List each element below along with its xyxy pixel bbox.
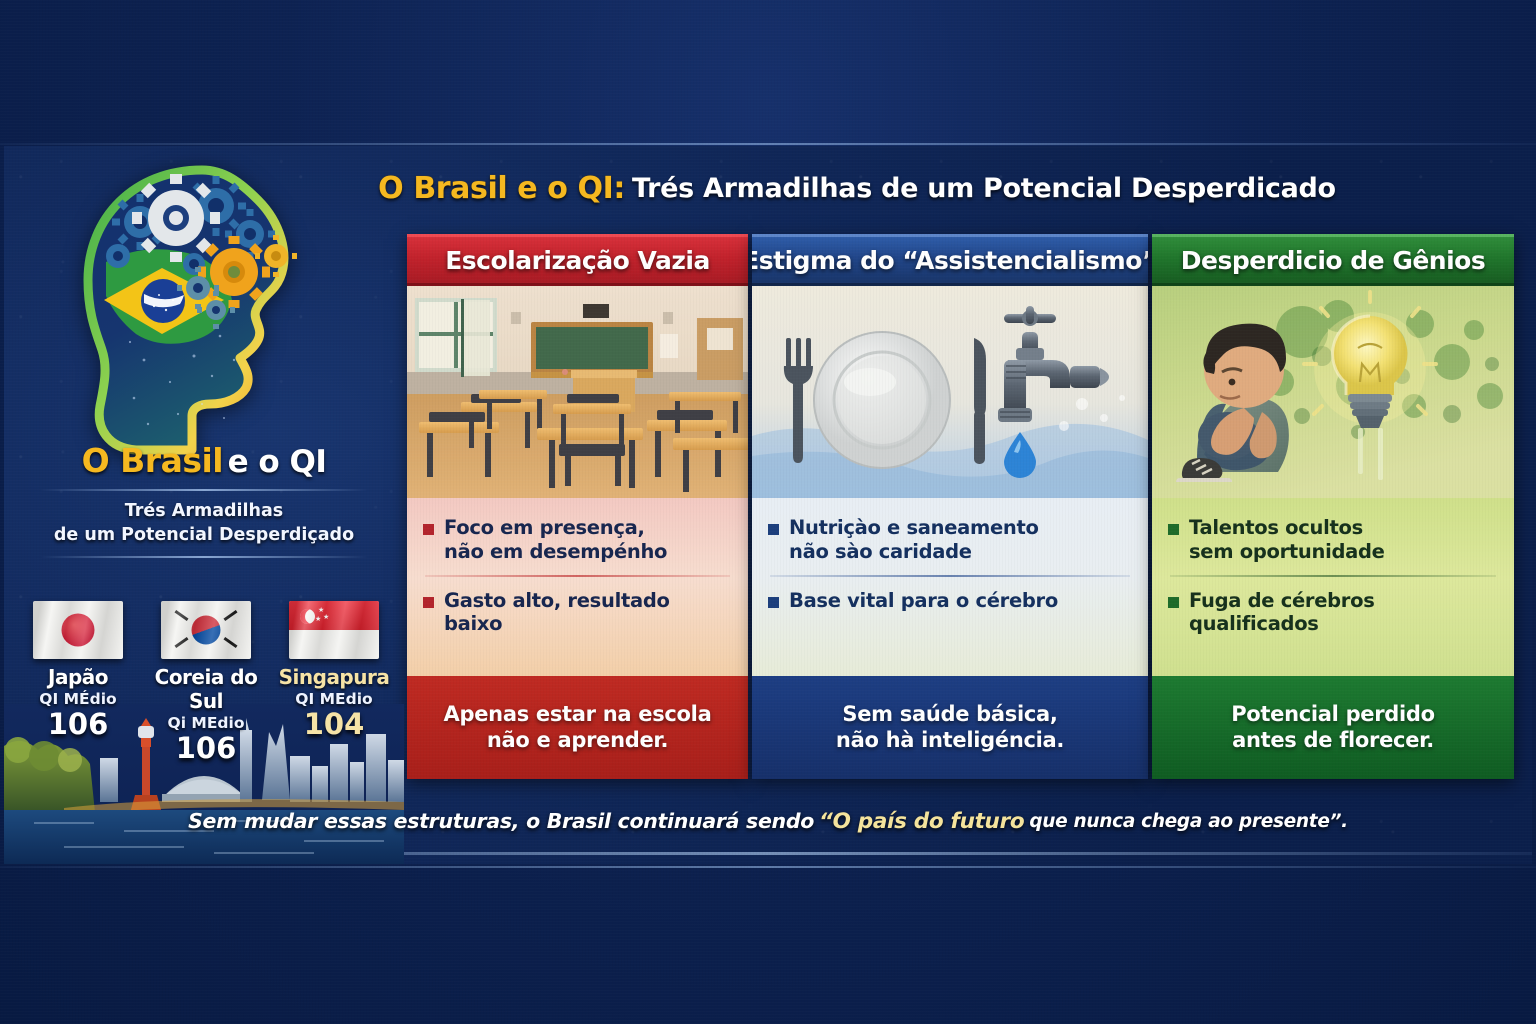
- country-iq-label: QI MÉdio: [18, 690, 138, 708]
- japan-flag-icon: [33, 601, 123, 659]
- card-conclusion-text: Sem saúde básica, não hà inteligéncia.: [836, 702, 1064, 753]
- bullet-item: Talentos ocultos sem oportunidade: [1168, 516, 1498, 564]
- japan-sun: [62, 614, 95, 647]
- conclusion-line-1: Sem saúde básica,: [842, 702, 1057, 726]
- bullet-marker-icon: [423, 524, 434, 535]
- bullet-text: Talentos ocultos sem oportunidade: [1189, 516, 1385, 564]
- bullet-item: Foco em presença, não em desempénho: [423, 516, 732, 564]
- bullet-separator: [425, 575, 730, 577]
- bullet-line-1: Talentos ocultos: [1189, 516, 1363, 539]
- country-name: Japão: [18, 665, 138, 689]
- country-iq-label: QI MEdio: [274, 690, 394, 708]
- bullet-line-2: não em desempénho: [444, 540, 667, 563]
- country-stat-south-korea: Coreia do Sul Qi MEdio 106: [146, 601, 266, 763]
- footer-text-part-1: Sem mudar essas estruturas, o Brasil con…: [188, 809, 814, 833]
- card-bullets: Foco em presença, não em desempénho Gast…: [407, 498, 748, 676]
- footer-banner: Sem mudar essas estruturas, o Brasil con…: [4, 794, 1532, 848]
- country-stat-japan: Japão QI MÉdio 106: [18, 601, 138, 763]
- crescent-moon: [300, 609, 315, 624]
- country-iq-value: 106: [18, 709, 138, 739]
- card-conclusion-text: Apenas estar na escola não e aprender.: [444, 702, 712, 753]
- bullet-marker-icon: [1168, 524, 1179, 535]
- bullet-separator: [1170, 575, 1496, 577]
- infographic-poster: O Brasil e o QI: Trés Armadilhas de um P…: [0, 0, 1536, 1024]
- card-conclusion: Apenas estar na escola não e aprender.: [407, 676, 748, 779]
- card-conclusion: Potencial perdido antes de florecer.: [1152, 676, 1514, 779]
- country-name: Singapura: [274, 665, 394, 689]
- flags-divider: [40, 556, 368, 558]
- bullet-item: Gasto alto, resultado baixo: [423, 589, 732, 637]
- bullet-text: Gasto alto, resultado baixo: [444, 589, 732, 637]
- left-logo-line: O Brasil e o QI: [4, 441, 404, 480]
- empty-classroom-illustration: [407, 286, 748, 498]
- child-lightbulb-svg: [1152, 286, 1514, 498]
- left-subtitle-line-2: de um Potencial Desperdiçado: [4, 524, 404, 548]
- bullet-text: Fuga de cérebros qualificados: [1189, 589, 1498, 637]
- country-iq-label: Qi MEdio: [146, 714, 266, 732]
- bullet-marker-icon: [768, 524, 779, 535]
- bullet-marker-icon: [1168, 597, 1179, 608]
- conclusion-line-2: antes de florecer.: [1232, 728, 1434, 752]
- country-name: Coreia do Sul: [146, 665, 266, 713]
- card-conclusion: Sem saúde básica, não hà inteligéncia.: [752, 676, 1148, 779]
- left-logo-rest: e o QI: [228, 444, 327, 480]
- bullet-item: Nutriçào e saneamento não sào caridade: [768, 516, 1132, 564]
- sad-child-and-lightbulb-illustration: [1152, 286, 1514, 498]
- frame-divider-top: [0, 143, 1536, 145]
- conclusion-line-1: Apenas estar na escola: [444, 702, 712, 726]
- conclusion-line-1: Potencial perdido: [1231, 702, 1435, 726]
- left-logo: O Brasil e o QI Trés Armadilhas de um Po…: [4, 441, 404, 567]
- card-desperdicio-de-genios[interactable]: Desperdicio de Gênios: [1152, 234, 1514, 779]
- logo-divider: [40, 489, 368, 491]
- country-iq-value: 106: [146, 733, 266, 763]
- bullet-text: Nutriçào e saneamento não sào caridade: [789, 516, 1039, 564]
- bullet-marker-icon: [768, 597, 779, 608]
- card-estigma-assistencialismo[interactable]: Estigma do “Assistencialismo”: [752, 234, 1148, 779]
- card-escolarizacao-vazia[interactable]: Escolarização Vazia: [407, 234, 748, 779]
- bullet-line-1: Nutriçào e saneamento: [789, 516, 1039, 539]
- classroom-svg: [407, 286, 748, 498]
- taeguk-symbol: [192, 616, 221, 645]
- left-panel: O Brasil e o QI Trés Armadilhas de um Po…: [4, 146, 404, 864]
- card-title: Estigma do “Assistencialismo”: [752, 246, 1148, 275]
- brain-head-svg: [74, 160, 354, 460]
- page-title-rest: Trés Armadilhas de um Potencial Desperdi…: [632, 173, 1336, 204]
- poster-canvas: O Brasil e o QI Trés Armadilhas de um Po…: [4, 146, 1532, 864]
- card-header: Escolarização Vazia: [407, 234, 748, 286]
- card-conclusion-text: Potencial perdido antes de florecer.: [1231, 702, 1435, 753]
- footer-text-highlight: “O país do futuro: [819, 809, 1024, 834]
- country-iq-value: 104: [274, 709, 394, 739]
- conclusion-line-2: não hà inteligéncia.: [836, 728, 1064, 752]
- card-bullets: Talentos ocultos sem oportunidade Fuga d…: [1152, 498, 1514, 676]
- bullet-line-1: Foco em presença,: [444, 516, 645, 539]
- card-header: Estigma do “Assistencialismo”: [752, 234, 1148, 286]
- left-logo-accent: O Brasil: [82, 441, 224, 480]
- singapore-flag-icon: ★ ★ ★: [289, 601, 379, 659]
- singapore-red-band: [289, 601, 379, 630]
- card-header: Desperdicio de Gênios: [1152, 234, 1514, 286]
- bullet-text: Foco em presença, não em desempénho: [444, 516, 667, 564]
- card-title: Escolarização Vazia: [445, 246, 710, 275]
- page-title: O Brasil e o QI: Trés Armadilhas de um P…: [352, 166, 1362, 210]
- country-stat-singapore: ★ ★ ★ Singapura QI MEdio 104: [274, 601, 394, 763]
- bullet-item: Fuga de cérebros qualificados: [1168, 589, 1498, 637]
- bullet-line-2: sem oportunidade: [1189, 540, 1385, 563]
- frame-divider-bottom: [0, 866, 1536, 868]
- brain-head-illustration: [74, 160, 354, 460]
- page-title-highlight: O Brasil e o QI:: [378, 171, 625, 206]
- bullet-marker-icon: [423, 597, 434, 608]
- card-bullets: Nutriçào e saneamento não sào caridade B…: [752, 498, 1148, 676]
- bullet-text: Base vital para o cérebro: [789, 589, 1058, 613]
- left-subtitle-line-1: Trés Armadilhas: [4, 500, 404, 524]
- bullet-item: Base vital para o cérebro: [768, 589, 1132, 613]
- bullet-line-2: não sào caridade: [789, 540, 972, 563]
- plate-faucet-svg: [752, 286, 1148, 498]
- south-korea-flag-icon: [161, 601, 251, 659]
- bullet-separator: [770, 575, 1130, 577]
- left-subtitle: Trés Armadilhas de um Potencial Desperdi…: [4, 500, 404, 547]
- footer-text-part-2: que nunca chega ao presente”.: [1029, 811, 1348, 832]
- card-title: Desperdicio de Gênios: [1181, 246, 1485, 275]
- country-iq-stats: Japão QI MÉdio 106 Coreia do Sul Qi MEdi…: [18, 601, 394, 763]
- conclusion-line-2: não e aprender.: [487, 728, 668, 752]
- empty-plate-and-faucet-illustration: [752, 286, 1148, 498]
